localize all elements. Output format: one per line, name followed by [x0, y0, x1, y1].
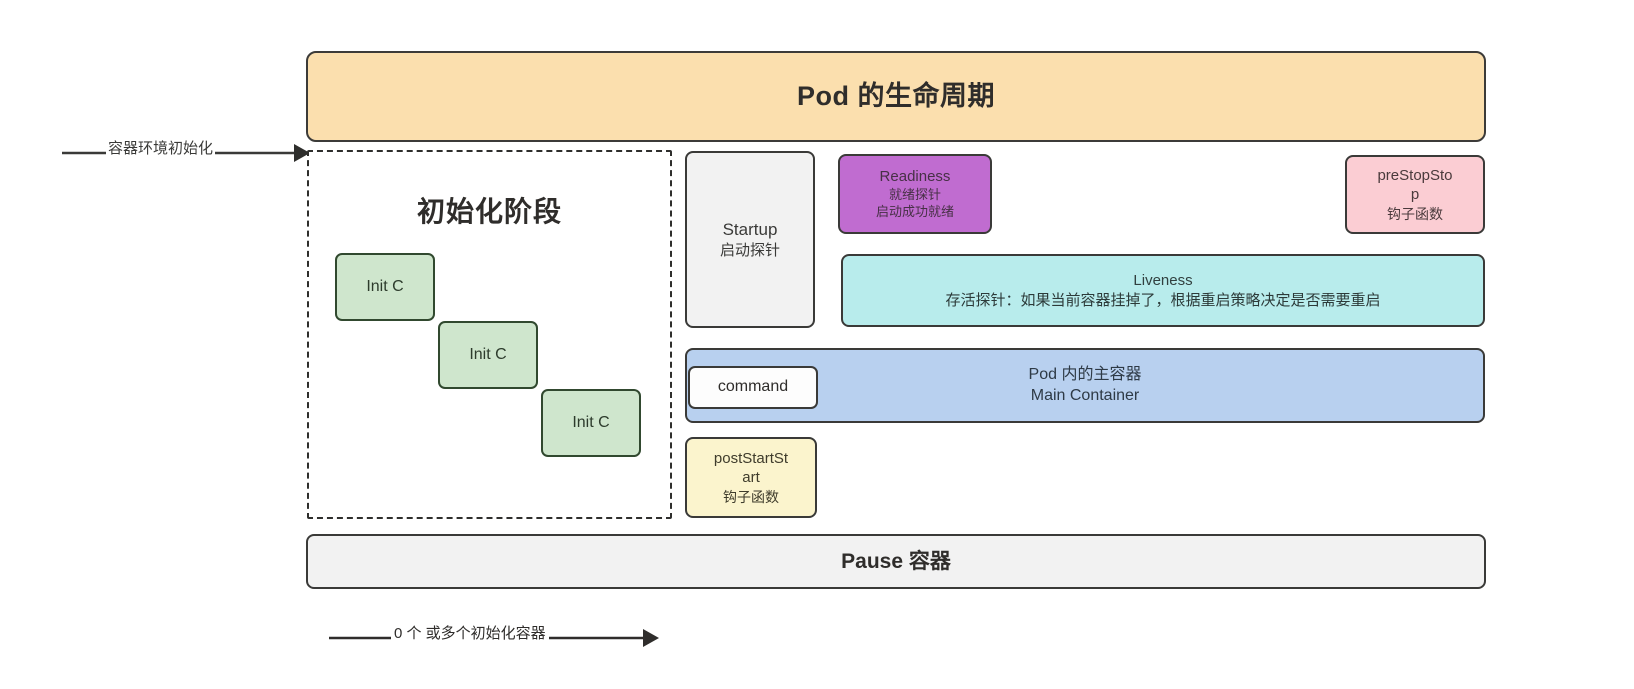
poststart-hook-name-line2: art	[742, 468, 760, 488]
startup-probe-name: Startup	[723, 219, 778, 241]
poststart-hook-cn: 钩子函数	[723, 488, 779, 506]
poststart-hook-name-line1: postStartSt	[714, 449, 788, 469]
readiness-probe-box: Readiness 就绪探针 启动成功就绪	[838, 154, 992, 234]
init-phase-title: 初始化阶段	[309, 190, 670, 230]
main-container-box: command Pod 内的主容器 Main Container	[685, 348, 1485, 423]
liveness-probe-desc: 存活探针：如果当前容器挂掉了，根据重启策略决定是否需要重启	[945, 291, 1380, 311]
init-phase-region: 初始化阶段 Init C Init C Init C 0 个 或多个初始化容器	[307, 150, 672, 519]
container-env-init-arrow: 容器环境初始化	[62, 139, 310, 167]
prestop-hook-cn: 钩子函数	[1387, 205, 1443, 223]
init-containers-flow-label: 0 个 或多个初始化容器	[391, 622, 549, 643]
prestop-hook-name-line1: preStopSto	[1377, 166, 1452, 186]
poststart-hook-box: postStartSt art 钩子函数	[685, 437, 817, 518]
init-container-box: Init C	[335, 253, 435, 321]
readiness-probe-name: Readiness	[880, 167, 951, 187]
liveness-probe-name: Liveness	[1133, 271, 1192, 291]
container-env-init-label: 容器环境初始化	[106, 137, 215, 158]
init-container-box: Init C	[438, 321, 538, 389]
page-title: Pod 的生命周期	[797, 79, 995, 114]
pod-lifecycle-title-banner: Pod 的生命周期	[306, 51, 1486, 142]
readiness-probe-cn: 就绪探针	[889, 187, 941, 204]
main-container-en: Main Container	[1031, 386, 1140, 407]
prestop-hook-box: preStopSto p 钩子函数	[1345, 155, 1485, 234]
pause-container-box: Pause 容器	[306, 534, 1486, 589]
init-container-box: Init C	[541, 389, 641, 457]
prestop-hook-name-line2: p	[1411, 185, 1419, 205]
main-container-cn: Pod 内的主容器	[1029, 365, 1142, 386]
liveness-probe-box: Liveness 存活探针：如果当前容器挂掉了，根据重启策略决定是否需要重启	[841, 254, 1485, 327]
readiness-probe-note: 启动成功就绪	[876, 204, 954, 221]
pause-container-label: Pause 容器	[841, 548, 951, 575]
init-containers-flow-arrow: 0 个 或多个初始化容器	[329, 625, 659, 651]
pod-lifecycle-diagram: Pod 的生命周期 容器环境初始化 初始化阶段 Init C Init C In…	[0, 0, 1634, 689]
command-box: command	[688, 366, 818, 409]
startup-probe-cn: 启动探针	[720, 241, 780, 261]
startup-probe-box: Startup 启动探针	[685, 151, 815, 328]
